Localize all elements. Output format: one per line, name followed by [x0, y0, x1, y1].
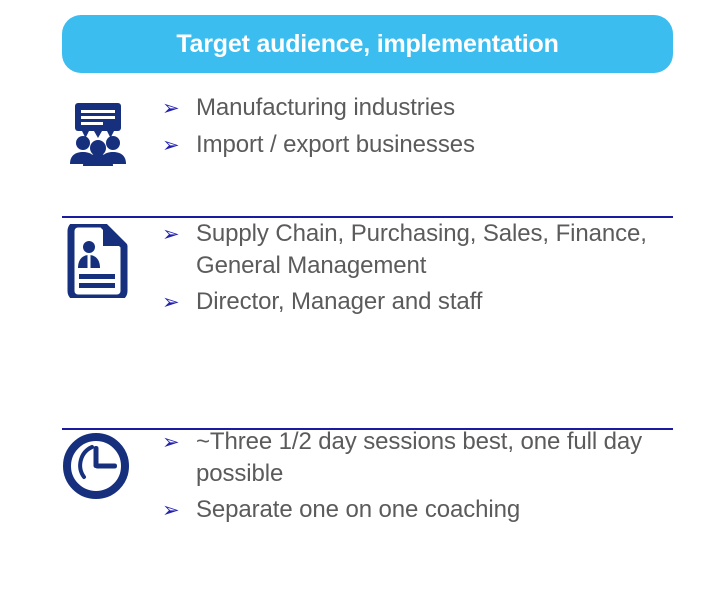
bullet-arrow-icon: ➢ [162, 129, 196, 162]
page-title: Target audience, implementation [176, 32, 558, 57]
list-item: ➢ Supply Chain, Purchasing, Sales, Finan… [162, 218, 688, 282]
bullet-list-2: ➢ Supply Chain, Purchasing, Sales, Finan… [162, 206, 702, 323]
bullet-text: Manufacturing industries [196, 92, 688, 124]
content-blocks: ➢ Manufacturing industries ➢ Import / ex… [0, 90, 702, 598]
header-banner: Target audience, implementation [62, 15, 673, 73]
section-target-audience: ➢ Manufacturing industries ➢ Import / ex… [0, 90, 702, 206]
icon-cell-2 [62, 206, 162, 298]
profile-document-icon [62, 224, 132, 298]
bullet-arrow-icon: ➢ [162, 92, 196, 125]
bullet-text: Director, Manager and staff [196, 286, 688, 318]
icon-cell-3 [62, 418, 162, 500]
section-functions-roles: ➢ Supply Chain, Purchasing, Sales, Finan… [0, 206, 702, 418]
list-item: ➢ Import / export businesses [162, 129, 688, 162]
bullet-text: Supply Chain, Purchasing, Sales, Finance… [196, 218, 688, 282]
section-implementation-duration: ➢ ~Three 1/2 day sessions best, one full… [0, 418, 702, 598]
list-item: ➢ ~Three 1/2 day sessions best, one full… [162, 426, 688, 490]
bullet-list-3: ➢ ~Three 1/2 day sessions best, one full… [162, 418, 702, 531]
section-divider-1 [62, 216, 673, 218]
bullet-arrow-icon: ➢ [162, 494, 196, 527]
clock-icon [62, 432, 130, 500]
section-divider-2 [62, 428, 673, 430]
list-item: ➢ Director, Manager and staff [162, 286, 688, 319]
audience-presentation-icon [62, 98, 134, 170]
bullet-text: Import / export businesses [196, 129, 688, 161]
bullet-list-1: ➢ Manufacturing industries ➢ Import / ex… [162, 90, 702, 166]
list-item: ➢ Manufacturing industries [162, 92, 688, 125]
icon-cell-1 [62, 90, 162, 170]
bullet-text: ~Three 1/2 day sessions best, one full d… [196, 426, 688, 490]
slide-root: Target audience, implementation [0, 0, 702, 611]
bullet-arrow-icon: ➢ [162, 218, 196, 251]
list-item: ➢ Separate one on one coaching [162, 494, 688, 527]
bullet-text: Separate one on one coaching [196, 494, 688, 526]
bullet-arrow-icon: ➢ [162, 426, 196, 459]
bullet-arrow-icon: ➢ [162, 286, 196, 319]
